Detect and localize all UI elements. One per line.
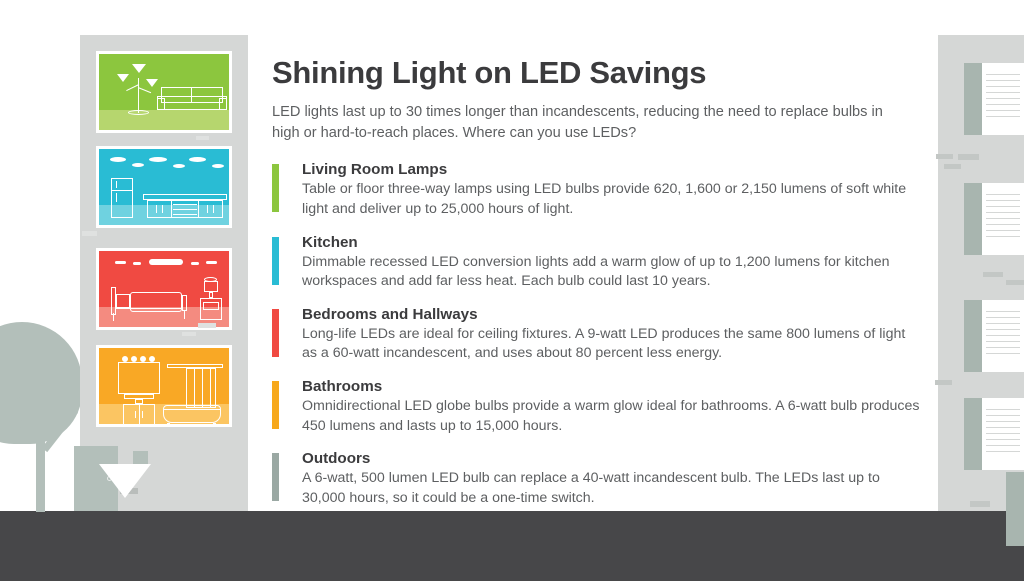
lamp-shade-icon (117, 74, 129, 82)
section-body: Dimmable recessed LED conversion lights … (302, 253, 922, 292)
brick-accent (182, 332, 196, 336)
recessed-light-icon (173, 164, 185, 168)
brick-accent (944, 164, 961, 169)
window (964, 183, 1024, 255)
accent-bar (272, 309, 279, 357)
accent-bar (272, 164, 279, 212)
recessed-light-icon (132, 163, 144, 167)
lamp-shade-icon (132, 64, 146, 73)
tree-trunk-icon (36, 390, 45, 512)
window (964, 398, 1024, 470)
ceiling-light-icon (149, 259, 183, 265)
ceiling-light-icon (133, 262, 141, 265)
shutter-left-icon (964, 300, 982, 372)
bedroom-panel (96, 248, 232, 330)
brick-accent (935, 380, 952, 385)
section-heading: Outdoors (302, 450, 922, 467)
recessed-light-icon (149, 157, 167, 162)
accent-bar (272, 453, 279, 501)
kitchen-panel (96, 146, 232, 228)
ceiling-light-icon (206, 261, 217, 264)
porch-light-beam (99, 464, 151, 498)
section-heading: Kitchen (302, 234, 922, 251)
section-body: Omnidirectional LED globe bulbs provide … (302, 397, 922, 436)
accent-bar (272, 381, 279, 429)
ceiling-light-icon (115, 261, 126, 264)
brick-accent (82, 231, 97, 236)
section-bathrooms: Bathrooms Omnidirectional LED globe bulb… (272, 378, 922, 436)
mirror-icon (118, 362, 160, 394)
brick-accent (936, 154, 953, 159)
shower-curtain-icon (186, 368, 216, 408)
brick-accent (958, 154, 979, 160)
table-lamp-icon (204, 281, 218, 292)
refrigerator-icon (111, 178, 133, 218)
porch-light-icon (133, 451, 148, 464)
neighbor-building-illustration (938, 35, 1024, 511)
section-heading: Living Room Lamps (302, 161, 922, 178)
building-column (1006, 472, 1024, 546)
section-bedrooms-and-hallways: Bedrooms and Hallways Long-life LEDs are… (272, 306, 922, 364)
bed-icon (130, 292, 182, 312)
bathtub-icon (163, 405, 221, 423)
window (964, 300, 1024, 372)
bathroom-panel (96, 345, 232, 427)
house-illustration (80, 35, 248, 511)
shutter-left-icon (964, 63, 982, 135)
brick-accent (198, 323, 216, 328)
shutter-left-icon (964, 398, 982, 470)
section-heading: Bedrooms and Hallways (302, 306, 922, 323)
lamp-base-icon (128, 110, 149, 115)
brick-accent (983, 272, 1003, 277)
infographic-canvas: Shining Light on LED Savings LED lights … (0, 0, 1024, 581)
section-heading: Bathrooms (302, 378, 922, 395)
recessed-light-icon (189, 157, 206, 162)
lamp-shade-icon (146, 79, 158, 87)
living-room-panel (96, 51, 232, 133)
section-body: Table or floor three-way lamps using LED… (302, 180, 922, 219)
recessed-light-icon (110, 157, 126, 162)
brick-accent (970, 501, 990, 507)
window (964, 63, 1024, 135)
ceiling-light-icon (191, 262, 199, 265)
recessed-light-icon (212, 164, 224, 168)
article-content: Shining Light on LED Savings LED lights … (272, 55, 922, 522)
page-title: Shining Light on LED Savings (272, 55, 922, 91)
section-body: Long-life LEDs are ideal for ceiling fix… (302, 325, 922, 364)
shutter-left-icon (964, 183, 982, 255)
section-kitchen: Kitchen Dimmable recessed LED conversion… (272, 234, 922, 292)
section-living-room-lamps: Living Room Lamps Table or floor three-w… (272, 161, 922, 219)
brick-accent (196, 136, 209, 140)
intro-paragraph: LED lights last up to 30 times longer th… (272, 102, 886, 143)
accent-bar (272, 237, 279, 285)
brick-accent (1006, 280, 1024, 285)
section-outdoors: Outdoors A 6-watt, 500 lumen LED bulb ca… (272, 450, 922, 508)
section-body: A 6-watt, 500 lumen LED bulb can replace… (302, 469, 922, 508)
